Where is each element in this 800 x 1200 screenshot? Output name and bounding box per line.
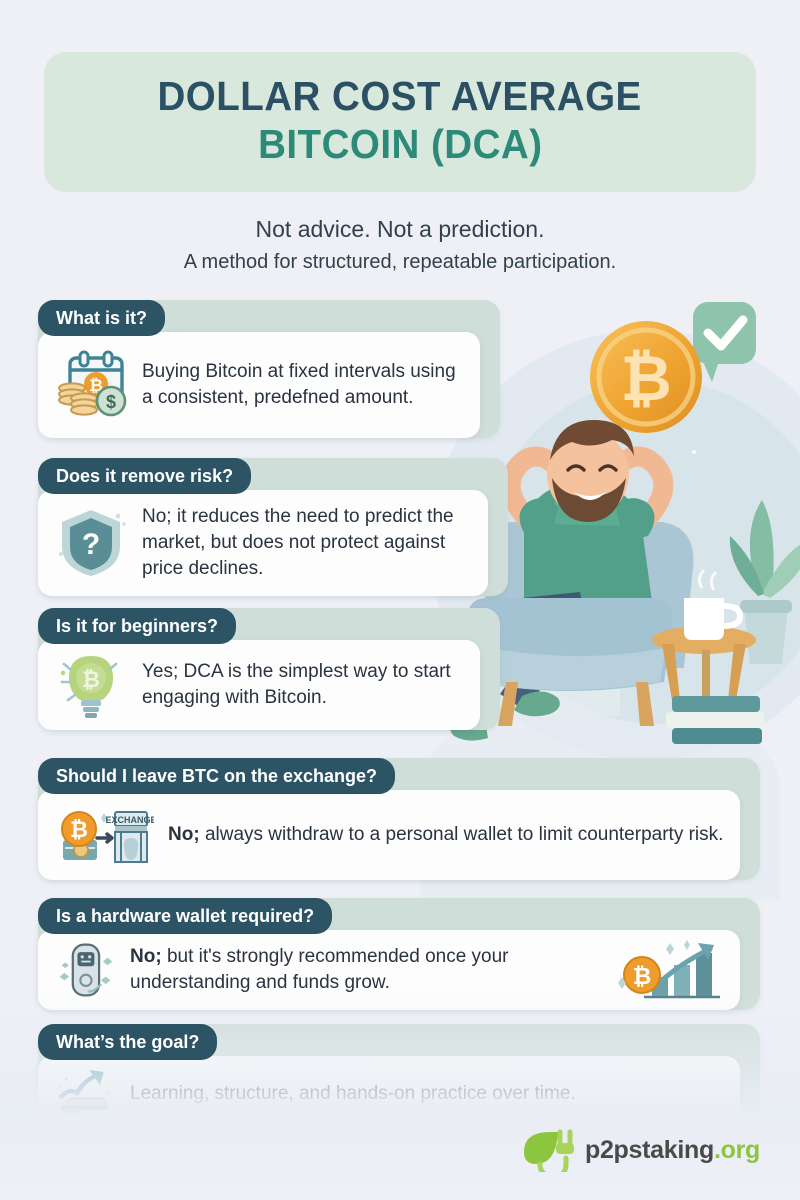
faq-answer-3: Yes; DCA is the simplest way to start en…: [142, 659, 464, 711]
book-stack-icon: [666, 696, 764, 744]
faq-answer-5-lead: No;: [130, 946, 162, 967]
faq-answer-2: No; it reduces the need to predict the m…: [142, 504, 472, 583]
faq-card-does-it-remove-risk[interactable]: Does it remove risk? ? No; it reduces th…: [38, 458, 508, 596]
checkmark-bubble-icon: [693, 302, 756, 382]
faq-question-2: Does it remove risk?: [38, 458, 251, 494]
faq-question-6: What’s the goal?: [38, 1024, 217, 1060]
faq-answer-4: No; always withdraw to a personal wallet…: [168, 822, 723, 848]
faq-question-3: Is it for beginners?: [38, 608, 236, 644]
svg-text:₿: ₿: [633, 963, 652, 989]
lightbulb-bitcoin-icon: ₿: [54, 648, 128, 722]
svg-text:₿: ₿: [70, 817, 88, 842]
faq-answer-5: No; but it's strongly recommended once y…: [130, 944, 592, 996]
svg-text:$: $: [106, 392, 116, 412]
subtitle-line1: Not advice. Not a prediction.: [0, 212, 800, 247]
faq-card-is-it-for-beginners[interactable]: Is it for beginners? ₿ Yes; DCA is the s…: [38, 608, 500, 730]
page-title-line2: BITCOIN (DCA): [258, 121, 542, 168]
faq-card-leave-btc-on-exchange[interactable]: Should I leave BTC on the exchange? ₿ EX…: [38, 758, 760, 880]
svg-text:EXCHANGE: EXCHANGE: [105, 815, 154, 825]
faq-answer-1: Buying Bitcoin at fixed intervals using …: [142, 359, 464, 411]
logo-tld: .org: [714, 1136, 760, 1164]
faq-answer-4-lead: No;: [168, 824, 200, 845]
page-title-line1: DOLLAR COST AVERAGE: [158, 76, 642, 118]
leaf-plug-icon: [520, 1128, 576, 1172]
faq-question-1: What is it?: [38, 300, 165, 336]
svg-text:₿: ₿: [82, 667, 100, 692]
exchange-building-icon: ₿ EXCHANGE: [54, 798, 154, 872]
page-title-box: DOLLAR COST AVERAGE BITCOIN (DCA): [44, 52, 756, 192]
calendar-coins-icon: ₿ $: [54, 348, 128, 422]
svg-text:?: ?: [82, 528, 100, 561]
logo-wordmark: p2pstaking.org: [585, 1136, 760, 1165]
bitcoin-coin-icon: ₿: [590, 321, 702, 433]
faq-question-5: Is a hardware wallet required?: [38, 898, 332, 934]
faq-card-what-is-it[interactable]: What is it? ₿ $ Buying Bitcoin at: [38, 300, 500, 438]
faq-answer-5-body: but it's strongly recommended once your …: [130, 946, 509, 993]
faq-question-4: Should I leave BTC on the exchange?: [38, 758, 395, 794]
subtitle: Not advice. Not a prediction. A method f…: [0, 212, 800, 277]
logo-name: p2pstaking: [585, 1136, 714, 1164]
infographic-page: ₿: [0, 0, 800, 1200]
subtitle-line2: A method for structured, repeatable part…: [0, 247, 800, 277]
shield-question-icon: ?: [54, 506, 128, 580]
faq-answer-4-body: always withdraw to a personal wallet to …: [205, 824, 723, 845]
site-logo[interactable]: p2pstaking.org: [520, 1128, 760, 1172]
svg-text:₿: ₿: [620, 344, 671, 414]
